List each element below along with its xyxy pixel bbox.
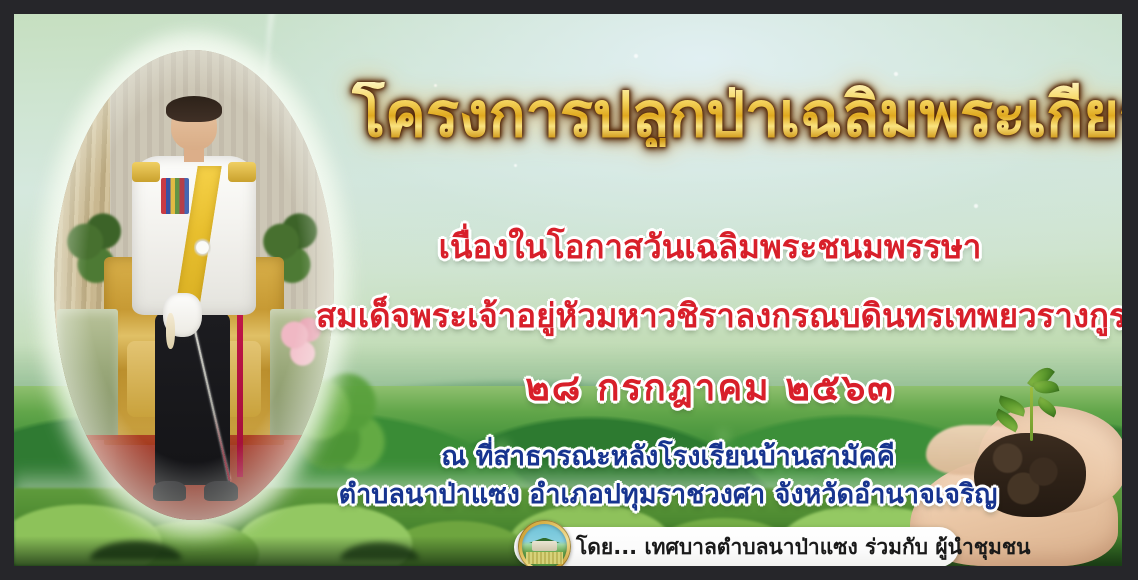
sword-tassel [166, 313, 175, 349]
poster-title: โครงการปลูกป่าเฉลิมพระเกียรติ [352, 82, 1122, 147]
location-line-1: ณ ที่สาธารณะหลังโรงเรียนบ้านสามัคคี [274, 434, 1062, 477]
side-table [57, 309, 119, 441]
location-line-2: ตำบลนาป่าแซง อำเภอปทุมราชวงศา จังหวัดอำน… [274, 472, 1062, 515]
subtitle-line-1: เนื่องในโอกาสวันเฉลิมพระชนมพรรษา [316, 220, 1104, 273]
municipality-seal-icon [518, 520, 571, 566]
epaulette [132, 162, 160, 182]
shoe [153, 481, 186, 501]
poster-root: โครงการปลูกป่าเฉลิมพระเกียรติ เนื่องในโอ… [0, 0, 1138, 580]
organizer-banner: โดย... เทศบาลตำบลนาป่าแซง ร่วมกับ ผู้นำช… [514, 527, 959, 566]
trouser-stripe [237, 313, 243, 477]
text-column: โครงการปลูกป่าเฉลิมพระเกียรติ เนื่องในโอ… [334, 14, 1122, 566]
king-figure [130, 102, 259, 502]
event-date: ๒๘ กรกฎาคม ๒๕๖๓ [316, 358, 1104, 417]
medal-ribbons [161, 178, 189, 214]
subtitle-line-2: สมเด็จพระเจ้าอยู่หัวมหาวชิราลงกรณบดินทรเ… [316, 289, 1104, 342]
epaulette [228, 162, 256, 182]
royal-star-icon [194, 234, 211, 262]
shoe [204, 481, 237, 501]
seal-ring [518, 520, 571, 566]
poster-canvas: โครงการปลูกป่าเฉลิมพระเกียรติ เนื่องในโอ… [14, 14, 1122, 566]
hair [166, 96, 223, 122]
organizer-text: โดย... เทศบาลตำบลนาป่าแซง ร่วมกับ ผู้นำช… [576, 531, 1030, 564]
